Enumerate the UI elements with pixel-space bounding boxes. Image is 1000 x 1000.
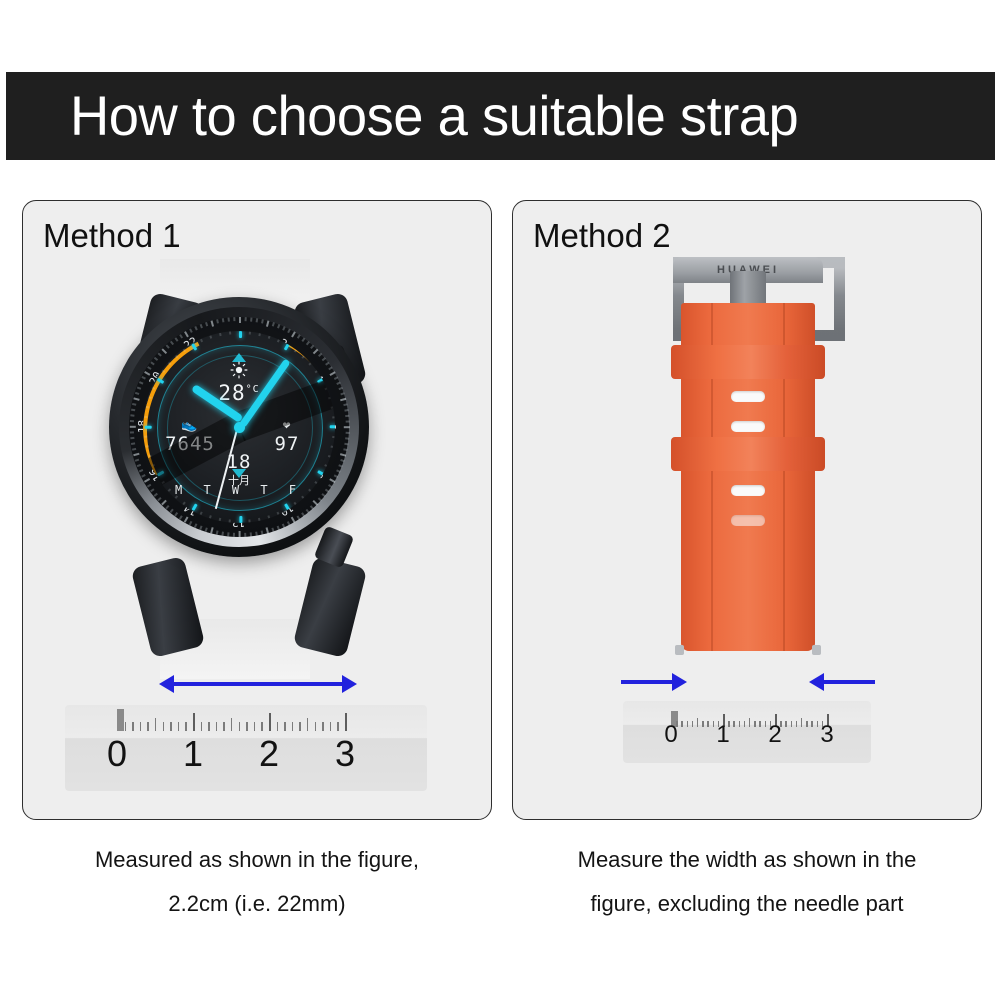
ruler-minor-tick — [231, 718, 232, 731]
bezel-tick — [287, 329, 290, 333]
bezel-tick — [130, 415, 134, 417]
bezel-tick — [133, 453, 139, 456]
bezel-tick — [228, 532, 230, 536]
bezel-tick — [297, 334, 301, 338]
ruler-minor-tick — [155, 718, 156, 731]
ruler-minor-tick — [687, 721, 688, 727]
dial-minute-tick — [229, 519, 231, 522]
bezel-tick — [336, 382, 340, 385]
arrow-shaft-left — [621, 680, 673, 684]
bezel-tick — [239, 531, 241, 537]
ruler-minor-tick — [754, 721, 755, 727]
temperature-unit: °C — [246, 384, 260, 395]
bezel-tick — [261, 319, 263, 323]
hands-hub — [234, 422, 245, 433]
bezel-tick — [131, 409, 135, 411]
bezel-tick — [158, 497, 162, 501]
ruler-minor-tick — [330, 722, 331, 731]
arrow-head-inward-right-icon — [809, 673, 824, 691]
bezel-tick — [194, 524, 197, 528]
arrow-head-left-icon — [159, 675, 174, 693]
active-day: S — [147, 483, 161, 497]
spring-bar-left — [675, 645, 684, 655]
bezel-tick — [318, 497, 322, 501]
bezel-tick — [200, 526, 203, 530]
bezel-tick — [150, 362, 154, 366]
bezel-tick — [245, 317, 247, 321]
dial-day-of-week: S M T W T F S — [147, 483, 332, 497]
bezel-tick — [132, 448, 136, 450]
dial-minute-tick — [229, 331, 231, 334]
caption-line-1: Measured as shown in the figure, — [22, 838, 492, 882]
ruler-minor-tick — [806, 721, 807, 727]
bezel-tick — [343, 403, 347, 405]
bezel-tick — [189, 329, 192, 333]
bezel-tick — [282, 524, 285, 528]
strap-hole-3 — [731, 485, 765, 496]
ruler-label: 2 — [249, 733, 289, 775]
bezel-tick — [170, 341, 174, 345]
ruler-label: 2 — [761, 721, 789, 749]
ruler-major-tick — [345, 713, 347, 731]
dial-minute-tick — [249, 519, 251, 522]
arrow-shaft-right — [823, 680, 875, 684]
bezel-tick — [277, 526, 280, 530]
bezel-tick — [245, 533, 247, 537]
method-1-panel: Method 1 246810121416182022 — [22, 200, 492, 820]
bezel-tick — [250, 318, 252, 322]
ruler-label: 1 — [173, 733, 213, 775]
bezel-tick — [334, 376, 338, 379]
ruler-minor-tick — [307, 718, 308, 731]
bezel-tick — [222, 318, 224, 322]
sun-icon — [230, 361, 248, 379]
bezel-tick — [130, 437, 134, 439]
bezel-tick — [133, 398, 139, 401]
watch-illustration: 246810121416182022 — [23, 249, 492, 769]
bezel-tick — [211, 527, 214, 533]
bezel-tick — [131, 443, 135, 445]
caption-line-2: 2.2cm (i.e. 22mm) — [22, 882, 492, 926]
bezel-tick — [250, 532, 252, 536]
bezel-tick — [343, 448, 347, 450]
ruler-label: 3 — [813, 721, 841, 749]
ruler-minor-tick — [702, 721, 703, 727]
bezel-tick — [174, 338, 178, 342]
bezel-tick — [325, 362, 329, 366]
method-2-panel: Method 2 HUAWEI — [512, 200, 982, 820]
bezel-tick — [291, 331, 295, 337]
arrow-head-right-icon — [342, 675, 357, 693]
ruler-minor-tick — [223, 722, 224, 731]
ruler-method-1: 0123 — [65, 705, 427, 791]
ruler-label: 0 — [657, 721, 685, 749]
ruler-minor-tick — [185, 722, 186, 731]
ruler-minor-tick — [739, 721, 740, 727]
bezel-tick — [141, 376, 145, 379]
strap-hole-2 — [731, 421, 765, 432]
ruler-major-tick — [269, 713, 271, 731]
ruler-minor-tick — [246, 722, 247, 731]
bezel-tick — [233, 317, 235, 321]
bezel-tick — [194, 326, 197, 330]
bezel-tick — [344, 409, 348, 411]
ruler-minor-tick — [796, 721, 797, 727]
ruler-label: 0 — [97, 733, 137, 775]
bezel-tick — [130, 420, 134, 422]
ruler-minor-tick — [170, 722, 171, 731]
heart-rate-value: 97 — [275, 433, 300, 455]
bezel-tick — [135, 392, 139, 395]
bezel-tick — [344, 443, 348, 445]
ruler-major-tick — [117, 709, 124, 731]
watch-dial: 28°C 👟 7645 ❤ 97 18 十月 S M T W T F S — [143, 331, 335, 523]
bezel-tick — [338, 464, 342, 467]
dial-minute-tick — [144, 436, 147, 438]
bezel-tick — [266, 527, 269, 533]
ruler-minor-tick — [697, 718, 698, 727]
ruler-minor-tick — [163, 722, 164, 731]
method-2-caption: Measure the width as shown in the figure… — [512, 838, 982, 926]
bezel-tick — [310, 505, 314, 509]
caption-line-1: Measure the width as shown in the — [512, 838, 982, 882]
bezel-tick — [313, 349, 318, 354]
bezel-tick — [282, 326, 285, 330]
dial-minute-tick — [332, 416, 335, 418]
bezel-tick — [336, 469, 340, 472]
ruler-minor-tick — [140, 722, 141, 731]
bezel-tick — [306, 341, 310, 345]
dial-minute-tick — [144, 416, 147, 418]
bezel-tick — [287, 521, 290, 525]
bezel-tick — [261, 531, 263, 535]
bezel-tick — [179, 515, 183, 519]
poster-root: How to choose a suitable strap Method 1 … — [0, 0, 1000, 1000]
ruler-minor-tick — [744, 721, 745, 727]
ruler-label: 1 — [709, 721, 737, 749]
bezel-tick — [256, 532, 258, 536]
ruler-minor-tick — [254, 722, 255, 731]
dial-hour-marker — [330, 425, 335, 428]
bezel-tick — [166, 345, 170, 349]
bezel-tick — [266, 321, 269, 327]
ruler-minor-tick — [801, 718, 802, 727]
bezel-tick — [338, 387, 342, 390]
bezel-tick — [233, 533, 235, 537]
bezel-tick — [301, 512, 305, 516]
bezel-tick — [277, 324, 280, 328]
dial-hour-marker — [239, 516, 242, 523]
ruler-minor-tick — [299, 722, 300, 731]
bezel-tick — [297, 515, 301, 519]
strap-hole-4 — [731, 515, 765, 526]
bezel-tick — [135, 459, 139, 462]
dial-minute-tick — [331, 446, 334, 448]
ruler-minor-tick — [216, 722, 217, 731]
bezel-tick — [346, 420, 350, 422]
bezel-tick — [344, 426, 350, 428]
bezel-tick — [322, 357, 326, 361]
spring-bar-right — [812, 645, 821, 655]
bezel-tick — [179, 334, 183, 338]
bezel-tick — [130, 432, 134, 434]
bezel-tick — [272, 322, 275, 326]
bezel-tick — [161, 500, 166, 505]
page-title: How to choose a suitable strap — [6, 88, 798, 144]
ruler-minor-tick — [239, 722, 240, 731]
bezel-tick — [147, 366, 151, 370]
method-1-caption: Measured as shown in the figure, 2.2cm (… — [22, 838, 492, 926]
strap-hole-1 — [731, 391, 765, 402]
dial-minute-tick — [146, 406, 149, 408]
ruler-minor-tick — [208, 722, 209, 731]
ruler-minor-tick — [791, 721, 792, 727]
bezel-tick — [139, 469, 143, 472]
arrow-head-inward-left-icon — [672, 673, 687, 691]
bezel-tick — [141, 474, 145, 477]
bezel-tick — [161, 349, 166, 354]
bezel-tick — [154, 357, 158, 361]
ruler-minor-tick — [201, 722, 202, 731]
dial-minute-tick — [219, 333, 221, 336]
bezel-tick — [340, 459, 344, 462]
bezel-tick — [329, 371, 335, 375]
watch-lug-bottom-right — [293, 556, 368, 658]
bezel-tick — [222, 532, 224, 536]
bezel-tick — [318, 353, 322, 357]
strap-keeper-upper — [671, 345, 825, 379]
bezel-tick — [256, 318, 258, 322]
ruler-minor-tick — [284, 722, 285, 731]
bezel-tick — [346, 432, 350, 434]
ruler-minor-tick — [132, 722, 133, 731]
ruler-minor-tick — [322, 722, 323, 731]
bezel-tick — [174, 512, 178, 516]
bezel-tick — [239, 317, 241, 323]
bezel-tick — [310, 345, 314, 349]
ruler-minor-tick — [277, 722, 278, 731]
strap-keeper-lower — [671, 437, 825, 471]
watch-case: 246810121416182022 — [109, 297, 369, 557]
bezel-tick — [228, 318, 230, 322]
ruler-label: 3 — [325, 733, 365, 775]
dial-minute-tick — [249, 331, 251, 334]
bezel-tick — [137, 387, 141, 390]
bezel-tick — [340, 392, 344, 395]
bezel-tick — [158, 353, 162, 357]
watch-lug-bottom-left — [131, 556, 206, 658]
bezel-tick — [139, 382, 143, 385]
ruler-minor-tick — [125, 722, 126, 731]
bezel-tick — [130, 426, 136, 428]
bezel-tick — [216, 319, 218, 323]
bezel-tick — [189, 521, 192, 525]
bezel-tick — [306, 509, 310, 513]
bezel-tick — [328, 366, 332, 370]
bezel-tick — [340, 453, 346, 456]
ruler-minor-tick — [147, 722, 148, 731]
bezel-tick — [272, 528, 275, 532]
dial-minute-tick — [258, 518, 260, 521]
bezel-tick — [345, 437, 349, 439]
bezel-tick — [166, 505, 170, 509]
caption-line-2: figure, excluding the needle part — [512, 882, 982, 926]
title-banner: How to choose a suitable strap — [6, 72, 995, 160]
ruler-minor-tick — [315, 722, 316, 731]
bezel-tick — [205, 322, 208, 326]
bezel-tick — [200, 324, 203, 328]
bezel-tick — [340, 398, 346, 401]
bezel-tick — [132, 403, 136, 405]
bezel-tick — [301, 338, 305, 342]
arrow-shaft — [173, 682, 343, 686]
ruler-minor-tick — [692, 721, 693, 727]
ruler-minor-tick — [261, 722, 262, 731]
bezel-tick — [216, 531, 218, 535]
ruler-ticks — [65, 705, 427, 731]
bezel-tick — [211, 321, 214, 327]
ruler-method-2: 0123 — [623, 701, 871, 763]
bezel-tick — [205, 528, 208, 532]
bezel-tick — [170, 509, 174, 513]
dial-minute-tick — [332, 436, 335, 438]
bezel-tick — [334, 474, 338, 477]
strap-illustration: HUAWEI — [513, 241, 982, 721]
ruler-minor-tick — [178, 722, 179, 731]
bezel-tick — [137, 464, 141, 467]
ruler-minor-tick — [749, 718, 750, 727]
ruler-minor-tick — [337, 722, 338, 731]
dial-hour-marker — [239, 331, 242, 338]
bezel-tick — [184, 517, 188, 523]
ruler-minor-tick — [292, 722, 293, 731]
ruler-major-tick — [193, 713, 195, 731]
